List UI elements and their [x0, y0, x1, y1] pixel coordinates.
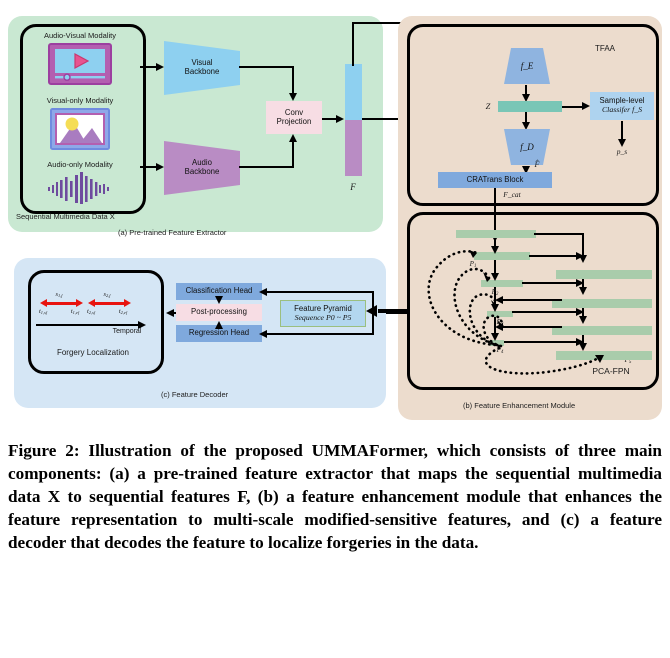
arrow-conv-to-feature [322, 118, 336, 120]
arrowhead-visual-backbone [156, 63, 164, 71]
feature-bar-visual-part [345, 64, 362, 120]
arrow-audio-to-conv-v [292, 142, 294, 168]
sample-level-classifier-box: Sample-levelClassifer f_S [590, 92, 654, 120]
segment-1-score-label: s1,f [46, 291, 72, 298]
modality-label-audio-visual: Audio-Visual Modality [24, 31, 136, 40]
segment-2-score-label: s2,f [94, 291, 120, 298]
segment-2-arrow-right [124, 299, 131, 307]
encoder-label: f_E [503, 55, 551, 77]
arrowhead-classifier [582, 102, 590, 110]
panel-b-caption: (b) Feature Enhancement Module [463, 401, 575, 410]
arrow-visual-to-conv-h [239, 66, 294, 68]
fps-branch-top [266, 291, 374, 293]
arrowhead-post-from-class [215, 296, 223, 304]
cratrans-output-label: F_cat [498, 190, 526, 199]
z-to-classifier [562, 106, 582, 108]
video-player-icon [48, 43, 112, 85]
feature-pyramid-sequence-box: Feature PyramidSequence P0 ~ P5 [280, 300, 366, 327]
arrowhead-audio-backbone [156, 163, 164, 171]
audio-waveform-icon [46, 172, 114, 204]
arrowhead-conv-top [289, 93, 297, 101]
post-processing-box: Post-processing [176, 304, 262, 321]
pcafpn-skip-connections [407, 212, 653, 384]
tfaa-label: TFAA [585, 44, 625, 53]
modality-label-visual-only: Visual-only Modality [24, 96, 136, 105]
arrow-visual-to-conv-v [292, 66, 294, 93]
arrow-pcafpn-to-fps [378, 309, 408, 313]
modality-label-audio-only: Audio-only Modality [24, 160, 136, 169]
segment-1-arrow-left [40, 299, 47, 307]
segment-1-span [46, 302, 76, 305]
arrow-audio-to-conv-h [239, 166, 294, 168]
fps-branch-bottom [266, 333, 374, 335]
arrowhead-localization [166, 309, 174, 317]
segment-2-arrow-left [88, 299, 95, 307]
arrow-modality-to-visual [140, 66, 156, 68]
arrowhead-feature-bar [336, 115, 344, 123]
visual-backbone-label: VisualBackbone [163, 54, 241, 82]
panel-c-caption: (c) Feature Decoder [161, 390, 228, 399]
segment-2-end-label: t2,ef [110, 308, 136, 315]
panel-a-caption: (a) Pre-trained Feature Extractor [118, 228, 226, 237]
figure-diagram: Audio-Visual Modality Visual-only Modali… [0, 0, 670, 435]
forgery-localization-label: Forgery Localization [33, 348, 153, 357]
feature-bar-audio-part [345, 120, 362, 176]
feature-bar-label: F [342, 182, 364, 192]
image-picture-icon [50, 108, 110, 150]
arrowhead-conv-bottom [289, 134, 297, 142]
audio-backbone-label: AudioBackbone [163, 154, 241, 182]
feature-to-tfaa-up [352, 22, 354, 66]
arrowhead-regression-head [259, 330, 267, 338]
classifier-output-label: p_s [610, 147, 634, 156]
z-to-decoder [525, 112, 527, 122]
conv-projection-box: ConvProjection [266, 101, 322, 134]
segment-2-span [94, 302, 124, 305]
arrowhead-post-from-reg [215, 321, 223, 329]
segment-2-start-label: t2,sf [78, 308, 104, 315]
reconstructed-feature-label: F̂ [529, 160, 545, 169]
temporal-axis-label: Temporal [104, 328, 150, 335]
arrowhead-ps [618, 139, 626, 147]
segment-1-start-label: t1,sf [30, 308, 56, 315]
latent-z-label: Z [481, 101, 495, 111]
classifier-to-ps [621, 121, 623, 139]
encoder-to-z [525, 85, 527, 94]
segment-1-arrow-right [76, 299, 83, 307]
sequential-data-caption: Sequential Multimedia Data X [16, 212, 115, 221]
arrowhead-classification-head [259, 288, 267, 296]
temporal-axis-line [36, 324, 140, 326]
figure-caption: Figure 2: Illustration of the proposed U… [8, 440, 662, 554]
decoder-label: f_D [503, 136, 551, 158]
arrowhead-fps-input [366, 305, 377, 317]
latent-z-bar [498, 101, 562, 112]
cratrans-block: CRATrans Block [438, 172, 552, 188]
arrow-modality-to-audio [140, 166, 156, 168]
